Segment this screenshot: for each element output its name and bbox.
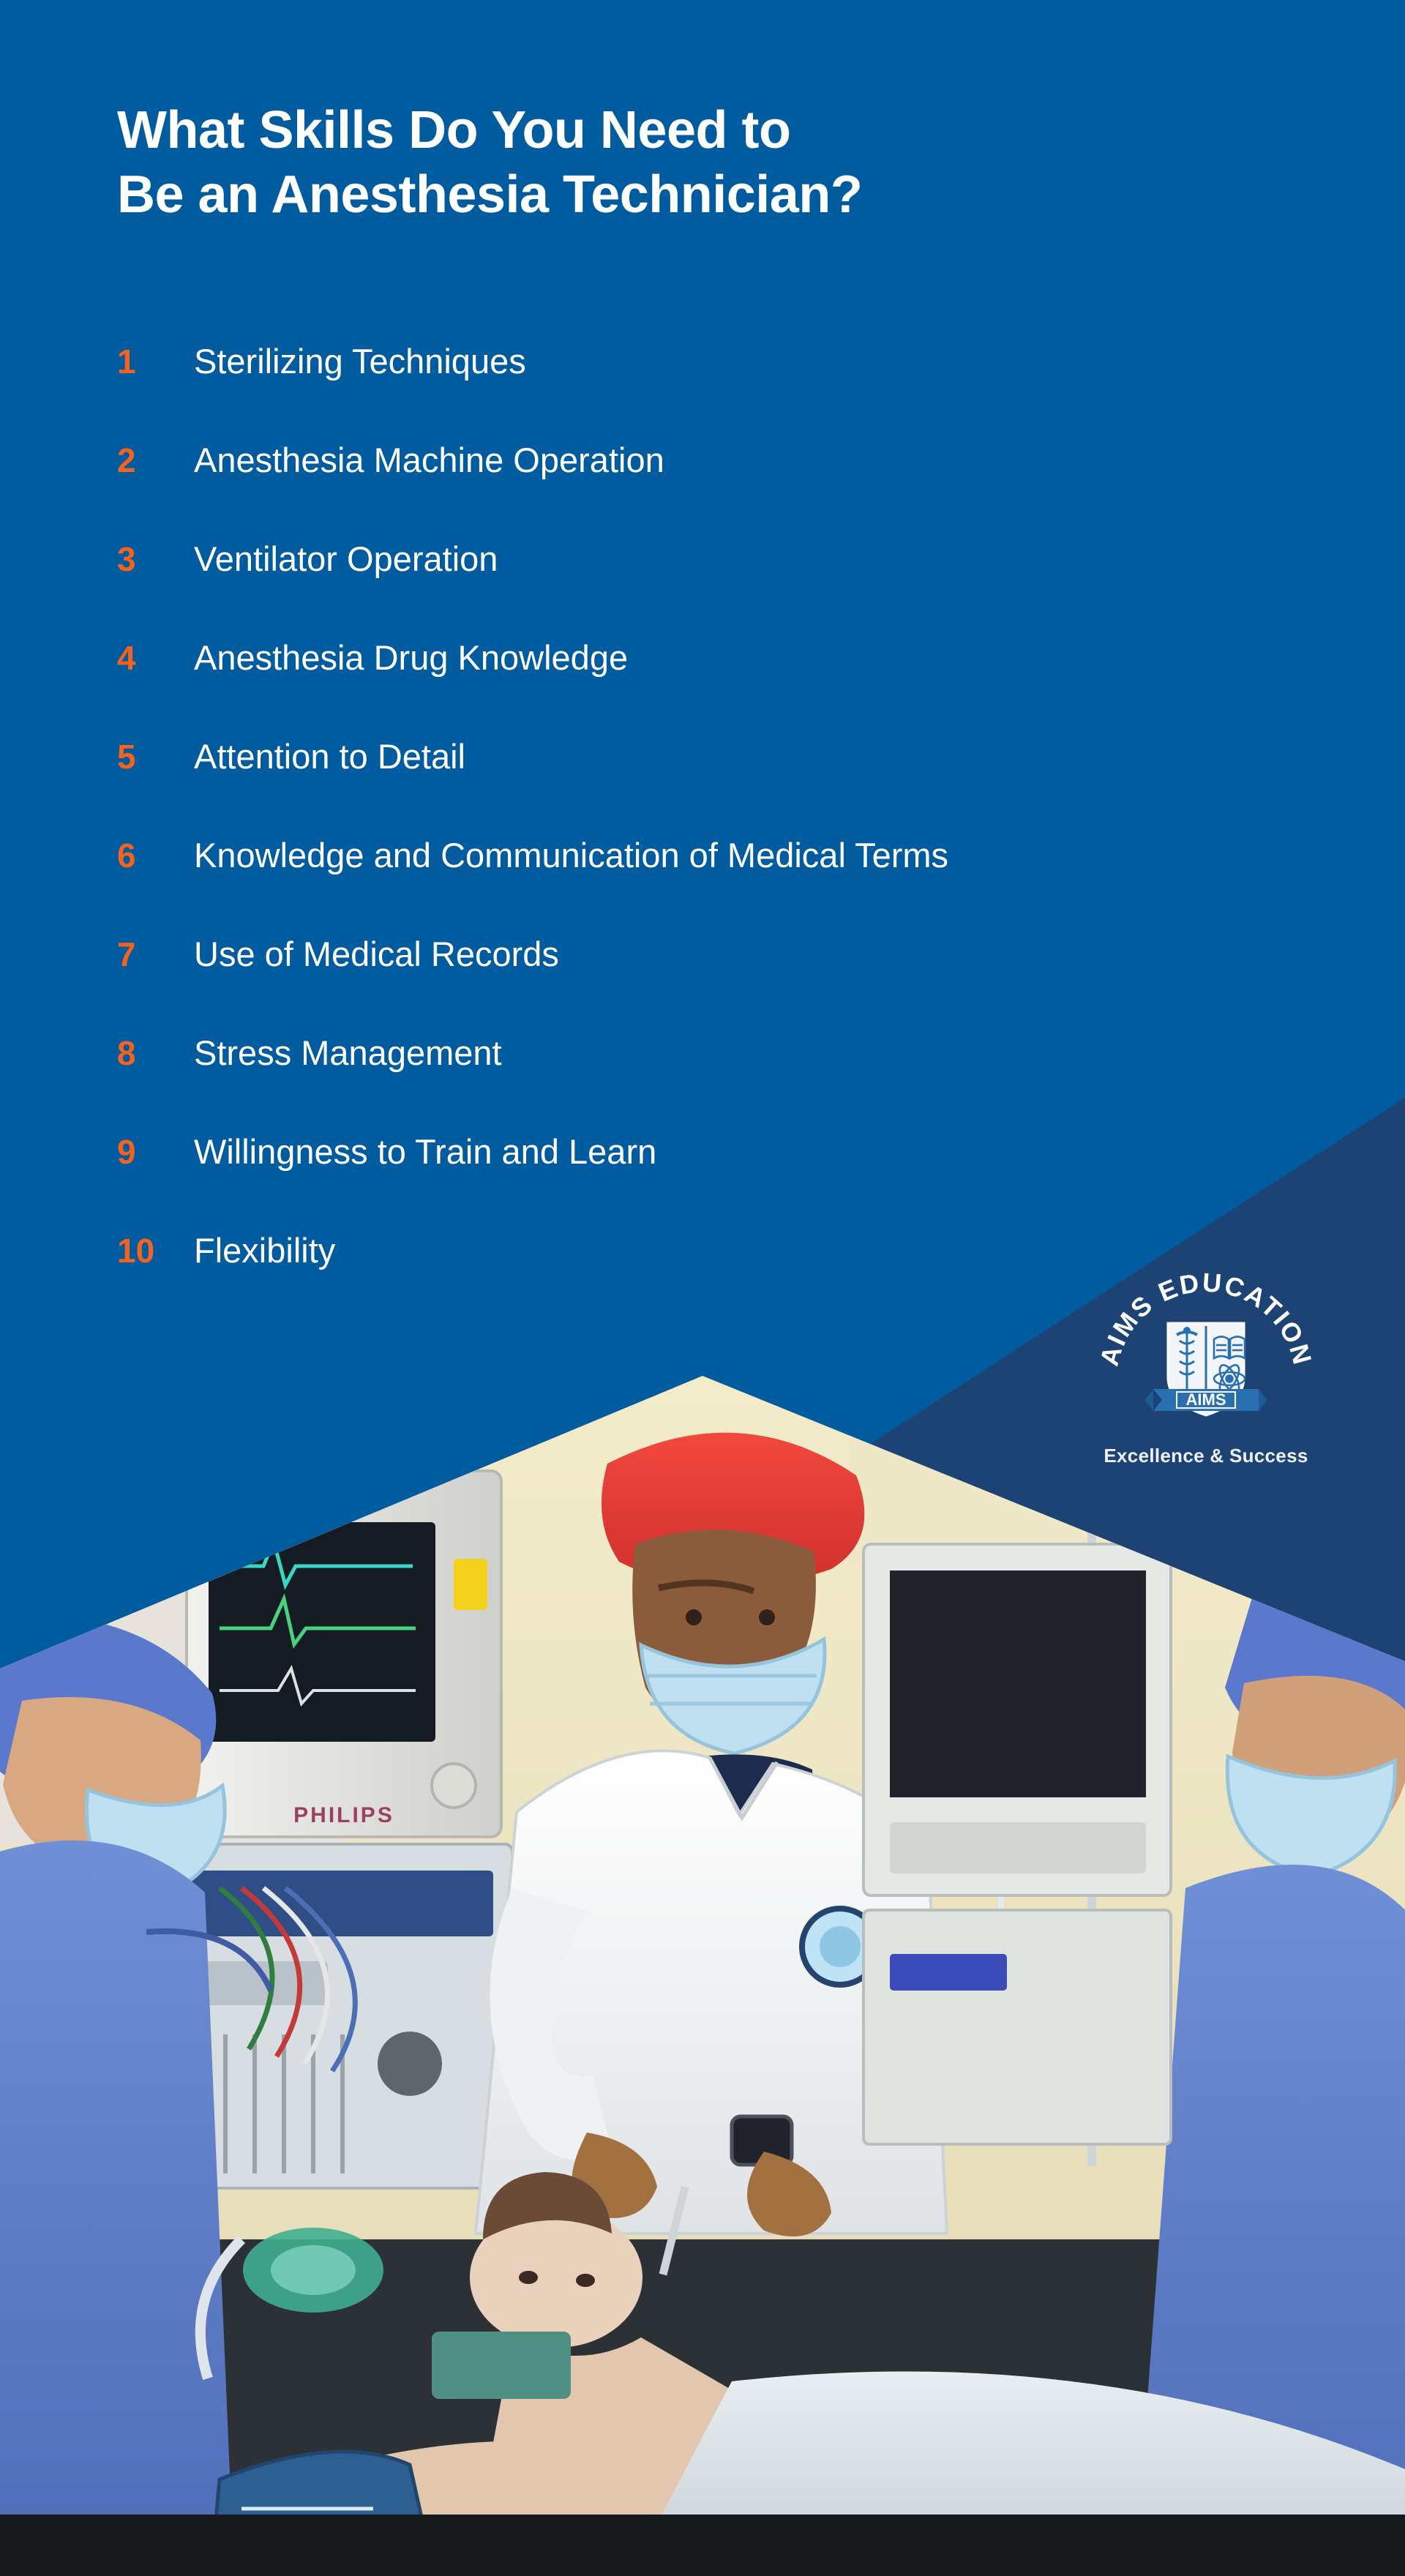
list-item-label: Stress Management — [194, 1036, 502, 1070]
title-line-2: Be an Anesthesia Technician? — [117, 163, 1215, 228]
list-item-number: 6 — [117, 839, 194, 872]
list-item: 8 Stress Management — [117, 1036, 1303, 1134]
list-item: 2 Anesthesia Machine Operation — [117, 443, 1303, 542]
page-title: What Skills Do You Need to Be an Anesthe… — [117, 99, 1215, 228]
title-line-1: What Skills Do You Need to — [117, 99, 1215, 163]
logo-banner: AIMS — [1144, 1389, 1267, 1411]
list-item: 1 Sterilizing Techniques — [117, 344, 1303, 443]
shield-icon: AIMS — [1144, 1323, 1267, 1415]
logo-tagline: Excellence & Success — [1074, 1445, 1338, 1467]
list-item-label: Willingness to Train and Learn — [194, 1134, 656, 1169]
list-item: 9 Willingness to Train and Learn — [117, 1134, 1303, 1233]
list-item-number: 3 — [117, 542, 194, 576]
list-item-number: 8 — [117, 1036, 194, 1070]
monitor-brand-label: PHILIPS — [293, 1803, 394, 1827]
list-item-number: 7 — [117, 937, 194, 971]
list-item-label: Use of Medical Records — [194, 937, 559, 971]
list-item-number: 5 — [117, 740, 194, 774]
list-item-number: 2 — [117, 443, 194, 477]
list-item-number: 10 — [117, 1234, 194, 1268]
list-item-number: 1 — [117, 345, 194, 378]
list-item-label: Sterilizing Techniques — [194, 344, 526, 378]
list-item: 4 Anesthesia Drug Knowledge — [117, 640, 1303, 739]
list-item: 3 Ventilator Operation — [117, 542, 1303, 640]
list-item-label: Knowledge and Communication of Medical T… — [194, 838, 948, 872]
list-item-label: Flexibility — [194, 1233, 335, 1268]
list-item-number: 9 — [117, 1135, 194, 1169]
aims-education-logo: AIMS EDUCATION — [1074, 1253, 1338, 1494]
list-item: 5 Attention to Detail — [117, 739, 1303, 838]
infographic-poster: What Skills Do You Need to Be an Anesthe… — [0, 0, 1405, 2576]
scrubs-left — [0, 1841, 234, 2576]
equipment-cart — [863, 1544, 1171, 2144]
list-item-label: Ventilator Operation — [194, 542, 498, 576]
head-support-block — [432, 2332, 571, 2399]
operating-table-edge — [0, 2515, 1405, 2576]
list-item: 6 Knowledge and Communication of Medical… — [117, 838, 1303, 937]
list-item-number: 4 — [117, 641, 194, 675]
logo-banner-text: AIMS — [1186, 1390, 1226, 1409]
skills-list: 1 Sterilizing Techniques 2 Anesthesia Ma… — [117, 344, 1303, 1332]
anesthesia-machine — [168, 1844, 512, 2188]
list-item-label: Anesthesia Drug Knowledge — [194, 640, 628, 675]
logo-mark: AIMS EDUCATION — [1096, 1253, 1316, 1443]
list-item-label: Anesthesia Machine Operation — [194, 443, 664, 477]
list-item: 7 Use of Medical Records — [117, 937, 1303, 1036]
patient-monitor: PHILIPS — [187, 1471, 501, 1837]
list-item-label: Attention to Detail — [194, 739, 465, 774]
